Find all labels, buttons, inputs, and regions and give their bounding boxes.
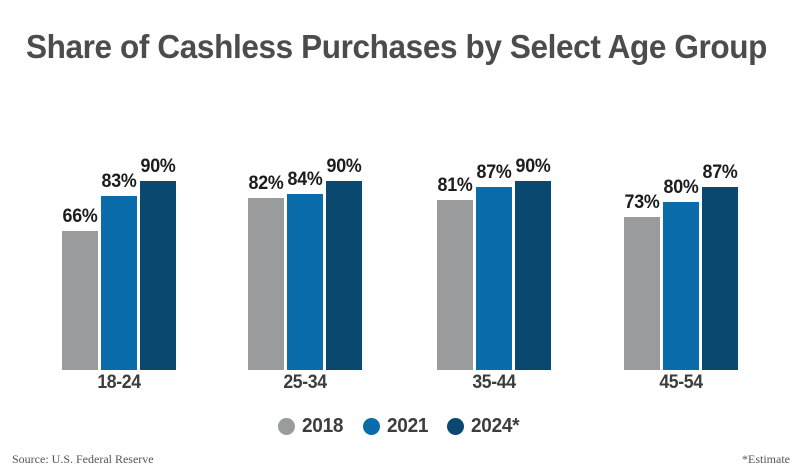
bar-value-label: 84%	[288, 169, 323, 191]
x-axis-label-45-54: 45-54	[628, 372, 734, 394]
bar-column[interactable]: 87%	[476, 92, 512, 370]
bar-value-label: 90%	[327, 156, 362, 178]
legend-item-2018[interactable]: 2018	[278, 415, 345, 438]
chart-title: Share of Cashless Purchases by Select Ag…	[26, 28, 752, 66]
bar-group: 66%83%90%	[62, 92, 176, 370]
bar-column[interactable]: 84%	[287, 92, 323, 370]
bar-value-label: 73%	[625, 192, 660, 214]
bar-2018-25-34[interactable]	[248, 198, 284, 370]
bar-column[interactable]: 80%	[663, 92, 699, 370]
bar-2018-18-24[interactable]	[62, 231, 98, 370]
bar-2018-45-54[interactable]	[624, 217, 660, 370]
bar-chart-figure: Share of Cashless Purchases by Select Ag…	[0, 0, 800, 475]
bar-2018-35-44[interactable]	[437, 200, 473, 370]
bar-value-label: 90%	[516, 156, 551, 178]
chart-legend: 201820212024*	[0, 415, 800, 438]
bar-column[interactable]: 90%	[515, 92, 551, 370]
bar-group: 81%87%90%	[437, 92, 551, 370]
circle-marker-gray-icon	[278, 418, 295, 435]
circle-marker-navy-icon	[447, 418, 464, 435]
x-axis-label-18-24: 18-24	[66, 372, 172, 394]
bar-2024-25-34[interactable]	[326, 181, 362, 370]
bar-group: 82%84%90%	[248, 92, 362, 370]
bar-value-label: 66%	[63, 206, 98, 228]
bar-value-label: 90%	[141, 156, 176, 178]
estimate-note: *Estimate	[742, 452, 790, 467]
x-axis-label-35-44: 35-44	[441, 372, 547, 394]
bar-2021-25-34[interactable]	[287, 194, 323, 370]
bar-group: 73%80%87%	[624, 92, 738, 370]
plot-area: 66%83%90%82%84%90%81%87%90%73%80%87%	[0, 92, 800, 370]
bar-value-label: 87%	[477, 162, 512, 184]
legend-label: 2024*	[471, 415, 519, 438]
bar-column[interactable]: 82%	[248, 92, 284, 370]
bar-value-label: 87%	[703, 162, 738, 184]
legend-item-2024[interactable]: 2024*	[447, 415, 522, 438]
bar-column[interactable]: 73%	[624, 92, 660, 370]
bar-value-label: 80%	[664, 177, 699, 199]
legend-label: 2021	[387, 415, 428, 438]
bar-2021-18-24[interactable]	[101, 196, 137, 370]
x-axis-label-25-34: 25-34	[252, 372, 358, 394]
bar-2024-35-44[interactable]	[515, 181, 551, 370]
source-note: Source: U.S. Federal Reserve	[12, 452, 154, 467]
bar-column[interactable]: 90%	[140, 92, 176, 370]
chart-footer: Source: U.S. Federal Reserve *Estimate	[0, 452, 800, 475]
bar-2024-18-24[interactable]	[140, 181, 176, 370]
bar-value-label: 81%	[438, 175, 473, 197]
bar-value-label: 82%	[249, 173, 284, 195]
bar-column[interactable]: 66%	[62, 92, 98, 370]
bar-2021-45-54[interactable]	[663, 202, 699, 370]
bar-column[interactable]: 83%	[101, 92, 137, 370]
circle-marker-blue-icon	[363, 418, 380, 435]
bar-2021-35-44[interactable]	[476, 187, 512, 370]
bar-column[interactable]: 90%	[326, 92, 362, 370]
legend-item-2021[interactable]: 2021	[363, 415, 430, 438]
bar-column[interactable]: 87%	[702, 92, 738, 370]
legend-label: 2018	[302, 415, 343, 438]
bar-2024-45-54[interactable]	[702, 187, 738, 370]
bar-column[interactable]: 81%	[437, 92, 473, 370]
x-axis-labels: 18-2425-3435-4445-54	[0, 372, 800, 400]
bar-value-label: 83%	[102, 171, 137, 193]
